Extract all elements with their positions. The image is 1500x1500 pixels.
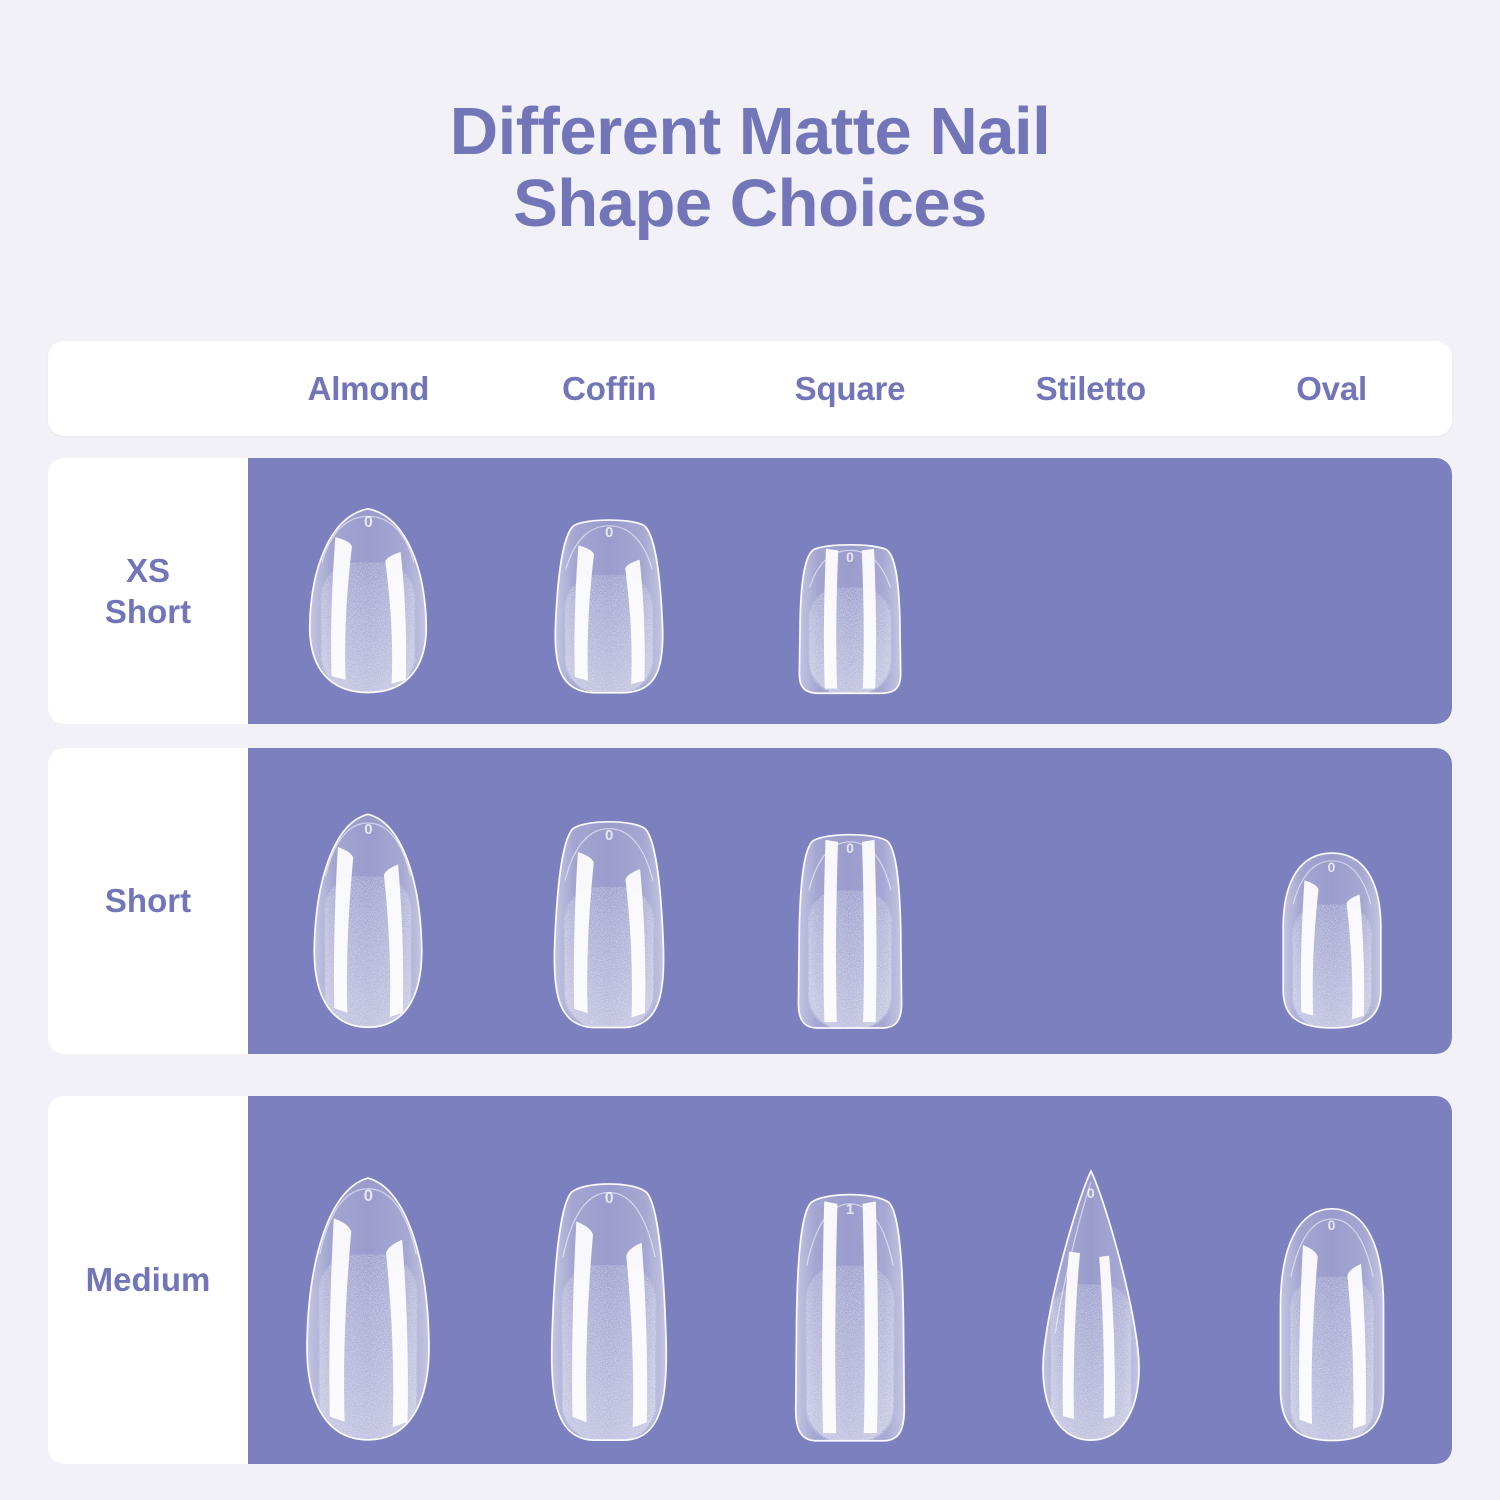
row-label-medium: Medium [48,1096,248,1464]
nail-tip-oval: 0 [1278,851,1386,1029]
nail-tip-almond: 0 [304,506,432,694]
cell-xs-short-stiletto [970,458,1211,724]
cell-short-coffin: 0 [489,748,730,1054]
nail-tip-coffin: 0 [549,516,669,694]
nail-tip-oval: 0 [1275,1206,1389,1442]
row-label-xs-short: XS Short [48,458,248,724]
row-label-line-1: Short [105,880,191,921]
cell-medium-oval: 0 [1211,1096,1452,1464]
cell-short-stiletto [970,748,1211,1054]
cell-xs-short-almond: 0 [248,458,489,724]
cell-medium-coffin: 0 [489,1096,730,1464]
cell-short-oval: 0 [1211,748,1452,1054]
page-title-line-2: Shape Choices [0,168,1500,240]
cell-xs-short-coffin: 0 [489,458,730,724]
cell-medium-stiletto: 0 [970,1096,1211,1464]
column-header-stiletto: Stiletto [970,370,1211,408]
cell-short-almond: 0 [248,748,489,1054]
column-header-card: Almond Coffin Square Stiletto Oval [48,341,1452,436]
nail-tip-coffin: 0 [548,817,670,1029]
nail-tip-square: 1 [790,1190,910,1442]
cell-medium-almond: 0 [248,1096,489,1464]
row-panel-xs-short: 0 0 0 [248,458,1452,724]
row-panel-medium: 0 0 1 0 0 [248,1096,1452,1464]
column-header-almond: Almond [248,370,489,408]
page-title-line-1: Different Matte Nail [0,96,1500,168]
row-label-line-2: Short [105,593,191,630]
row-label-line-1: Medium [86,1259,211,1300]
nail-tip-almond: 0 [301,1174,435,1442]
cell-xs-short-oval [1211,458,1452,724]
cell-short-square: 0 [730,748,971,1054]
row-label-short: Short [48,748,248,1054]
cell-medium-square: 1 [730,1096,971,1464]
table-row-xs-short: XS Short 0 0 0 [48,458,1452,724]
column-header-square: Square [730,370,971,408]
nail-tip-coffin: 0 [545,1178,673,1442]
column-header-coffin: Coffin [489,370,730,408]
row-label-line-1: XS [126,552,170,589]
nail-tip-almond: 0 [309,811,427,1029]
nail-tip-stiletto: 0 [1036,1170,1146,1442]
cell-xs-short-square: 0 [730,458,971,724]
nail-tip-square: 0 [793,831,907,1029]
nail-tip-square: 0 [794,542,906,694]
page-title: Different Matte Nail Shape Choices [0,96,1500,241]
infographic-page: Different Matte Nail Shape Choices Almon… [0,0,1500,1500]
row-panel-short: 0 0 0 0 [248,748,1452,1054]
table-row-medium: Medium 0 0 1 0 0 [48,1096,1452,1464]
table-row-short: Short 0 0 0 0 [48,748,1452,1054]
column-header-oval: Oval [1211,370,1452,408]
